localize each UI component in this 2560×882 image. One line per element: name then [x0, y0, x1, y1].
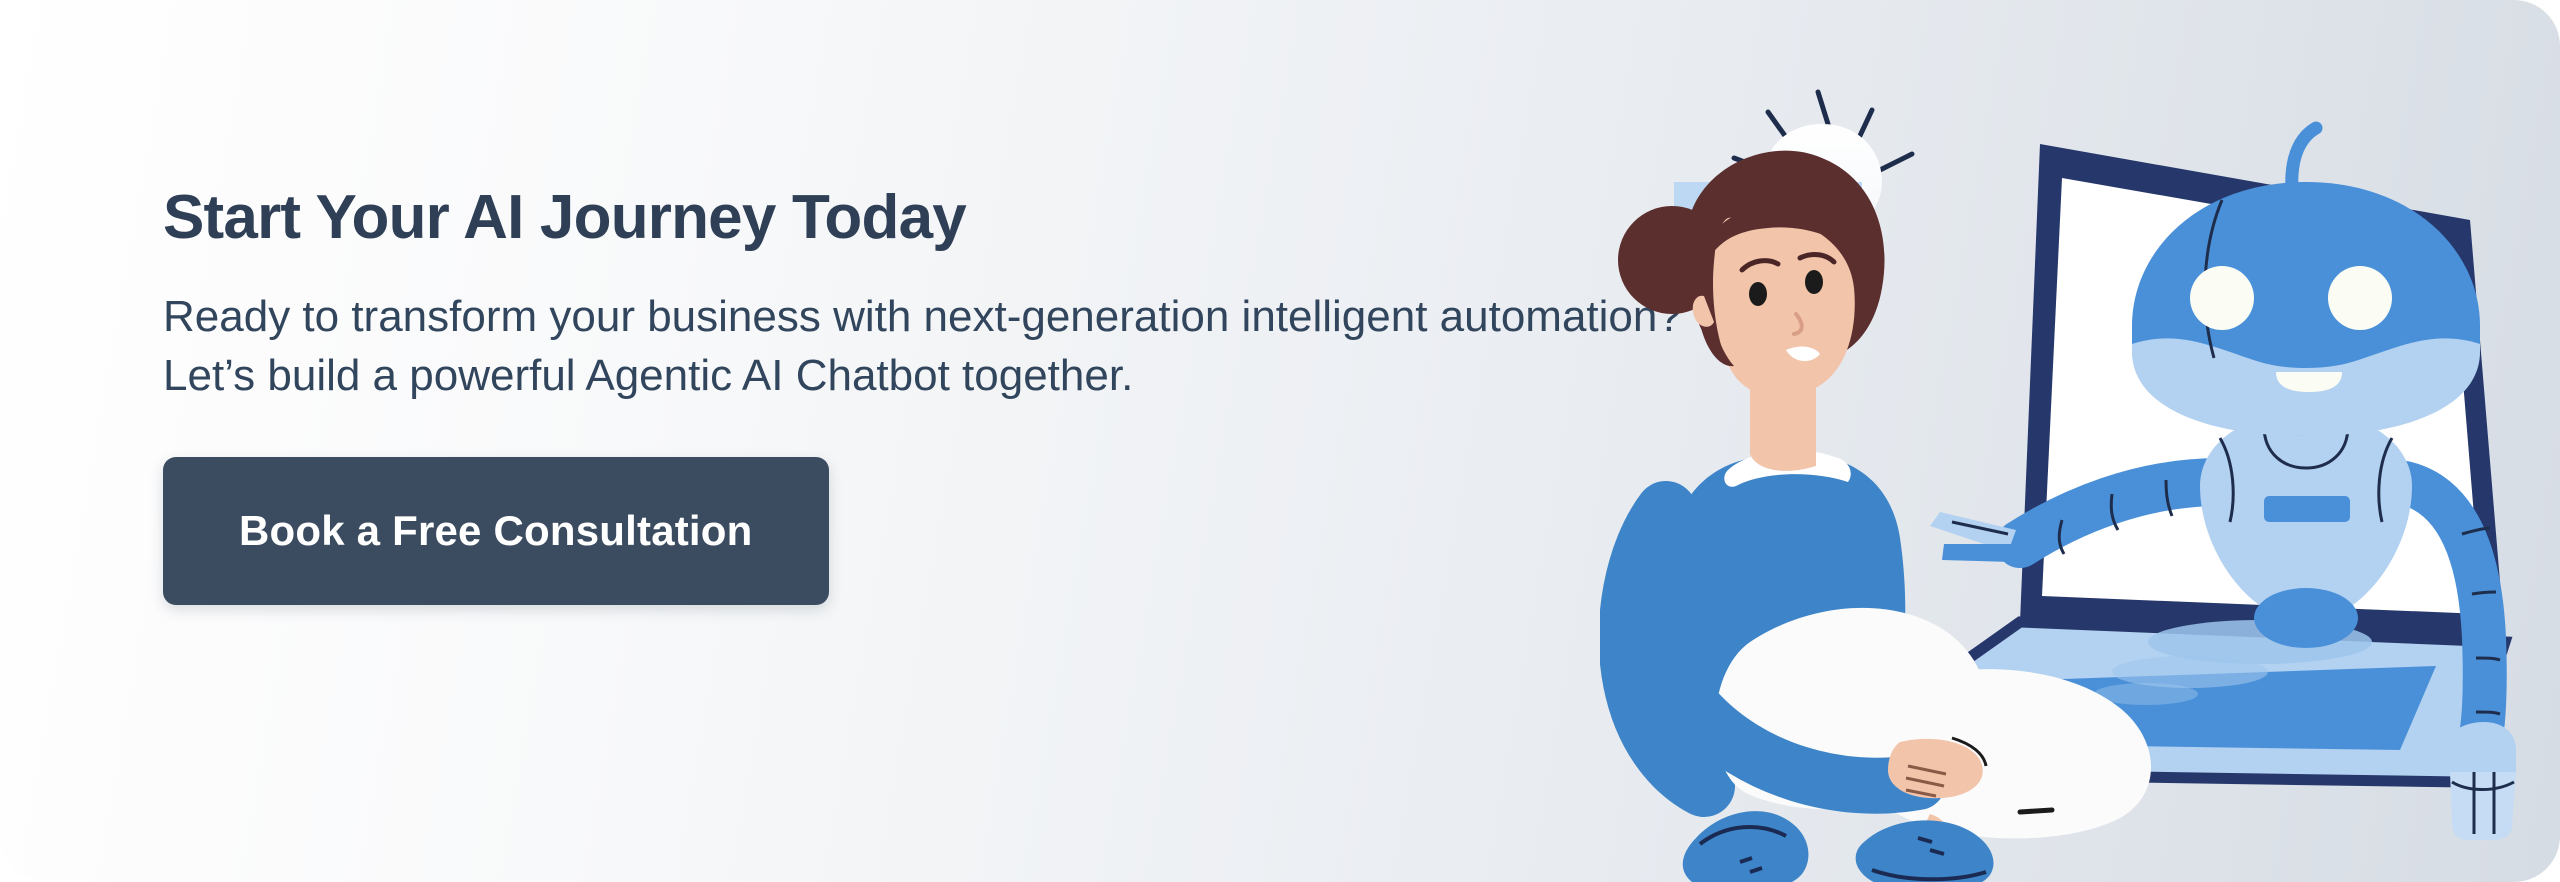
robot-head	[2132, 128, 2480, 436]
woman-hand	[1888, 738, 1986, 798]
robot	[1930, 128, 2516, 840]
page-title: Start Your AI Journey Today	[163, 186, 1763, 250]
book-free-consultation-button[interactable]: Book a Free Consultation	[163, 457, 829, 605]
cta-banner: Start Your AI Journey Today Ready to tra…	[0, 0, 2560, 882]
cta-container: Book a Free Consultation	[163, 405, 1763, 605]
banner-subcopy: Ready to transform your business with ne…	[163, 250, 1763, 404]
left-shoe	[1683, 811, 1809, 882]
banner-content: Start Your AI Journey Today Ready to tra…	[163, 186, 1763, 605]
right-shoe	[1856, 820, 1994, 882]
robot-torso	[2200, 412, 2412, 648]
robot-hand	[2428, 722, 2516, 840]
robot-hanging-arm	[2400, 482, 2516, 840]
laptop	[1808, 144, 2505, 782]
robot-pointing-arm	[1930, 480, 2220, 562]
